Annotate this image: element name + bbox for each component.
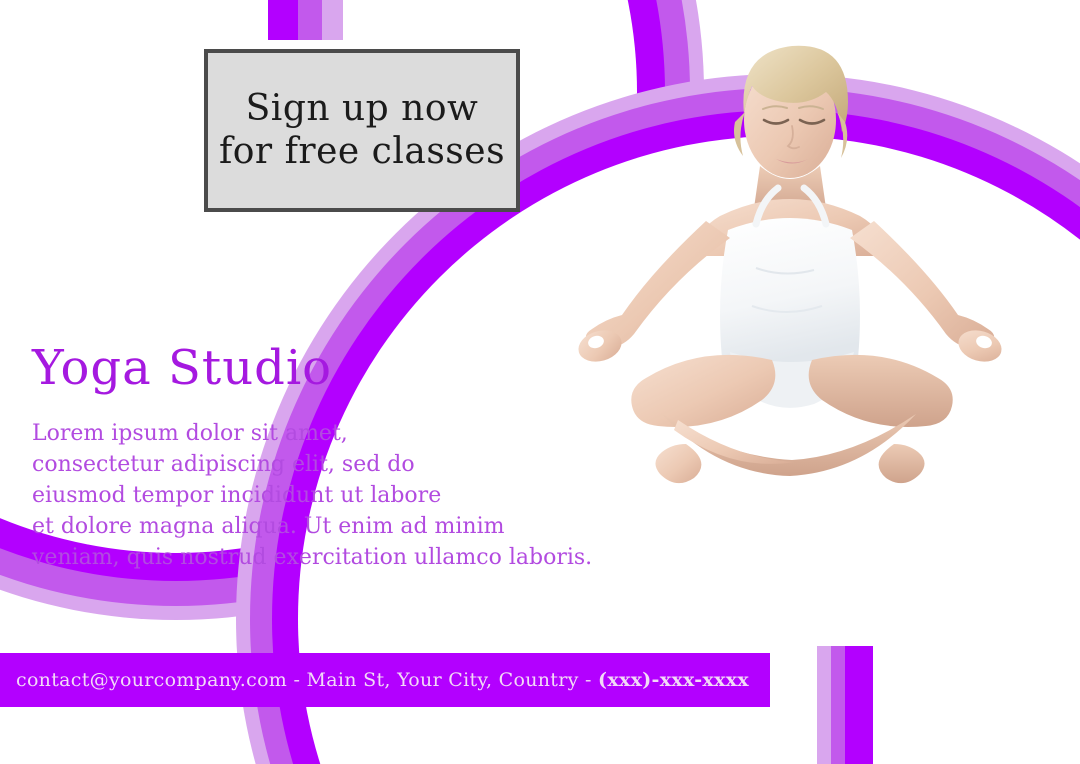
body-line: eiusmod tempor incididunt ut labore [32, 480, 632, 511]
signup-line-1: Sign up now [246, 88, 479, 130]
body-line: Lorem ipsum dolor sit amet, [32, 418, 632, 449]
footer-contact-text: contact@yourcompany.com - Main St, Your … [0, 669, 749, 691]
body-line: consectetur adipiscing elit, sed do [32, 449, 632, 480]
signup-callout-box[interactable]: Sign up now for free classes [204, 49, 520, 212]
decorative-band-bottom-mid [831, 646, 845, 764]
footer-contact-bar: contact@yourcompany.com - Main St, Your … [0, 653, 770, 707]
decorative-band-bottom-light [817, 646, 831, 764]
meditating-woman-image [560, 16, 1020, 486]
footer-phone[interactable]: (xxx)-xxx-xxxx [598, 669, 749, 691]
page-title: Yoga Studio [32, 340, 332, 396]
body-copy: Lorem ipsum dolor sit amet, consectetur … [32, 418, 632, 573]
footer-address: Main St, Your City, Country [307, 669, 579, 691]
signup-line-2: for free classes [219, 131, 505, 173]
footer-separator-2: - [579, 669, 598, 691]
decorative-band-top-bright [268, 0, 298, 40]
footer-separator-1: - [287, 669, 306, 691]
decorative-band-top-mid [298, 0, 322, 40]
body-line: veniam, quis nostrud exercitation ullamc… [32, 542, 632, 573]
decorative-band-top-light [322, 0, 343, 40]
footer-email[interactable]: contact@yourcompany.com [16, 669, 287, 691]
body-line: et dolore magna aliqua. Ut enim ad minim [32, 511, 632, 542]
yoga-studio-flyer: Sign up now for free classes Yoga Studio… [0, 0, 1080, 764]
decorative-band-bottom-bright [845, 646, 873, 764]
